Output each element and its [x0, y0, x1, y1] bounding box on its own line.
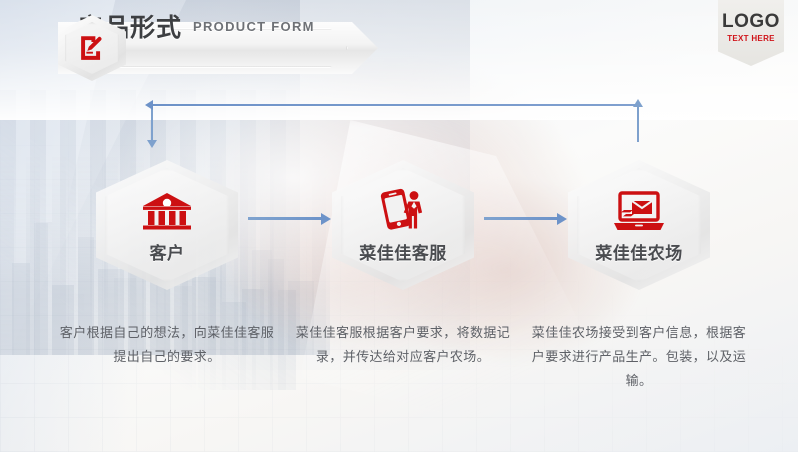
feedback-arrowhead-up: [633, 99, 643, 107]
arrow-tip-icon: [321, 213, 331, 225]
title-badge-hexagon: [58, 15, 126, 81]
flow-arrow-2: [484, 217, 558, 220]
bank-icon: [141, 187, 193, 233]
flow-node-farm[interactable]: 菜佳佳农场: [568, 160, 710, 290]
feedback-connector-highlight: [152, 106, 638, 107]
document-pencil-icon: [58, 15, 126, 81]
page-subtitle: PRODUCT FORM: [193, 19, 315, 34]
slide-canvas: 产品形式 PRODUCT FORM LOGO TEXT HERE: [0, 0, 798, 452]
logo-subtext: TEXT HERE: [718, 35, 784, 43]
node-label: 客户: [150, 239, 185, 264]
phone-agent-icon: [378, 187, 428, 233]
logo-text: LOGO: [718, 12, 784, 31]
flow-node-customer[interactable]: 客户: [96, 160, 238, 290]
node-label: 菜佳佳农场: [595, 239, 683, 264]
node-content: 菜佳佳农场: [568, 160, 710, 290]
laptop-mail-icon: [612, 187, 666, 233]
node-content: 客户: [96, 160, 238, 290]
node-label: 菜佳佳客服: [359, 239, 447, 264]
node-description-1: 客户根据自己的想法，向菜佳佳客服提出自己的要求。: [55, 322, 279, 370]
flow-node-customer-service[interactable]: 菜佳佳客服: [332, 160, 474, 290]
feedback-connector-drop-right: [637, 104, 639, 142]
flow-arrow-1: [248, 217, 322, 220]
feedback-arrowhead-left: [145, 100, 153, 110]
arrow-tip-icon: [557, 213, 567, 225]
node-description-2: 菜佳佳客服根据客户要求，将数据记录，并传达给对应客户农场。: [291, 322, 515, 370]
node-description-3: 菜佳佳农场接受到客户信息，根据客户要求进行产品生产。包装，以及运输。: [527, 322, 751, 394]
node-content: 菜佳佳客服: [332, 160, 474, 290]
logo-ribbon: LOGO TEXT HERE: [718, 0, 784, 66]
feedback-arrowhead-down: [147, 140, 157, 148]
